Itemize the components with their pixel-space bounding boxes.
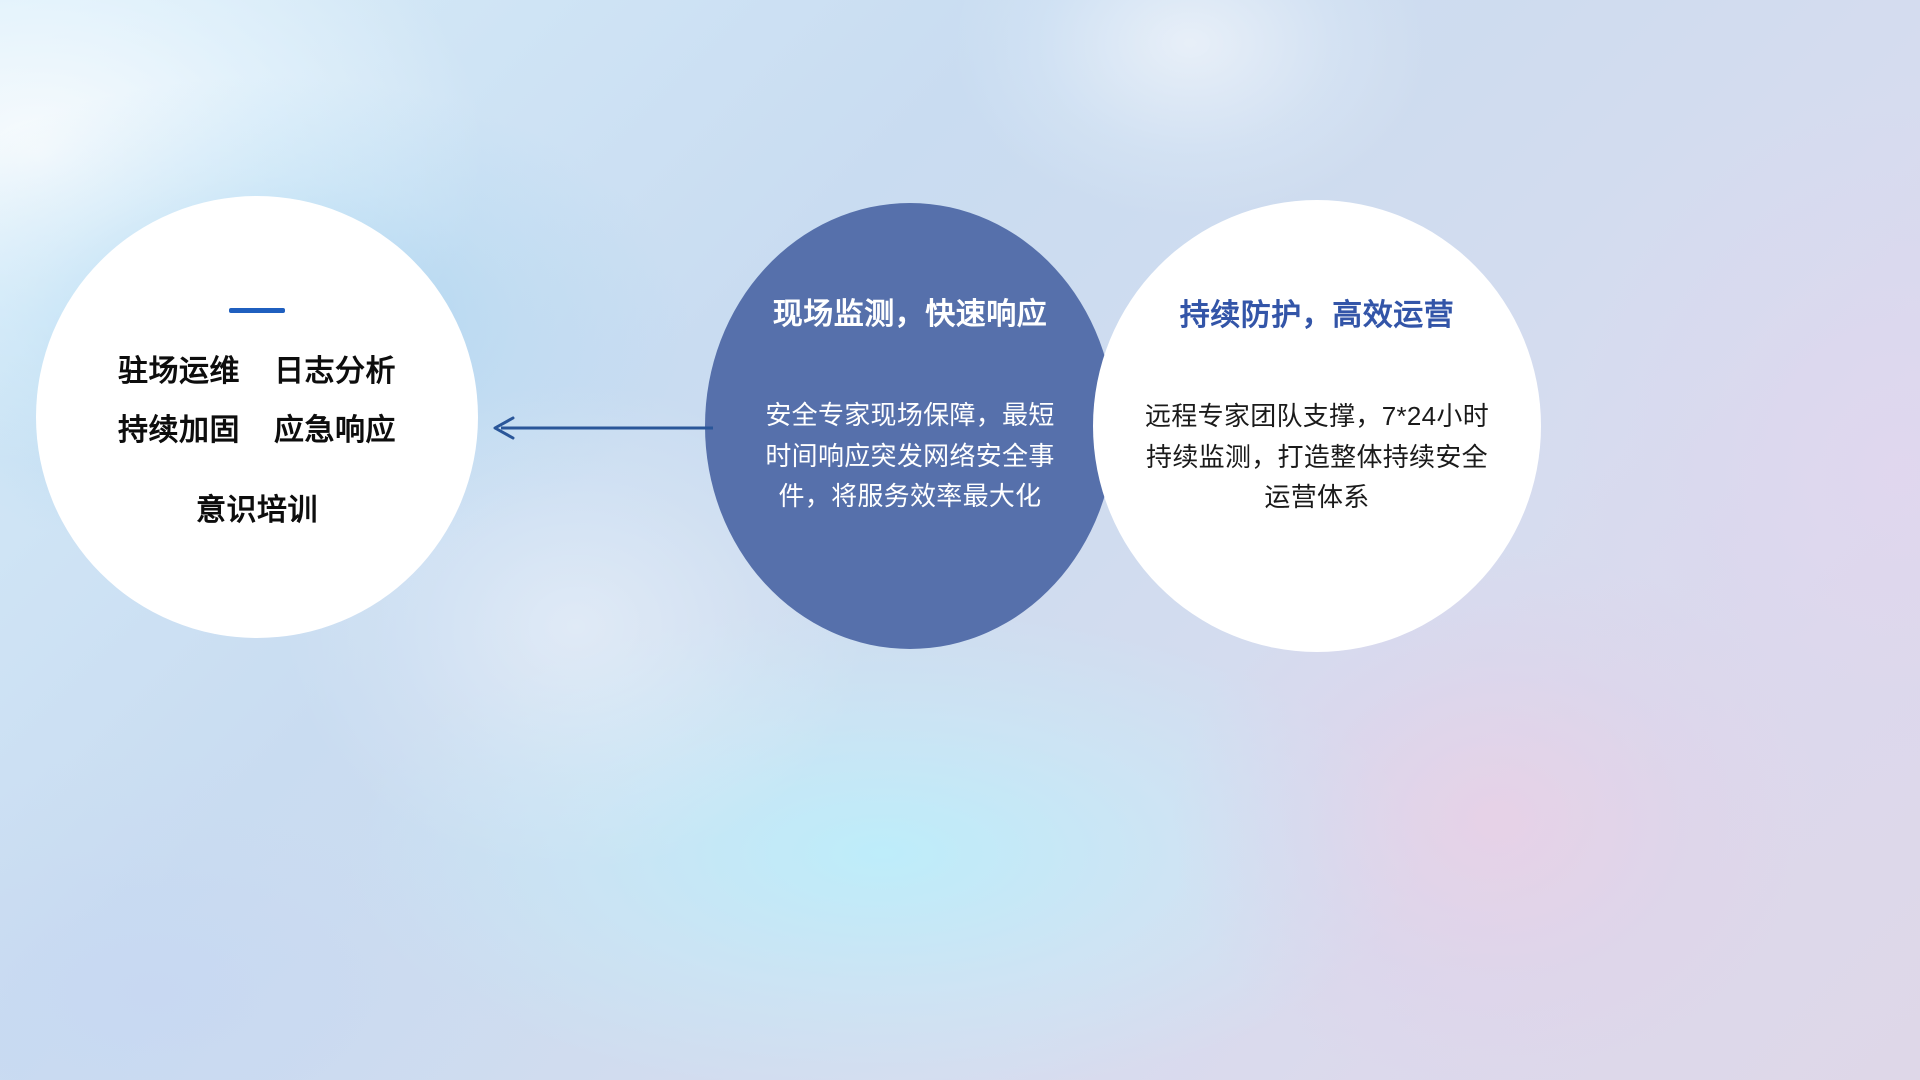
capability-tag: 驻场运维 — [118, 351, 240, 394]
divider-dash-icon — [229, 308, 285, 313]
capability-tag: 持续加固 — [118, 410, 240, 453]
service-capabilities-circle[interactable]: 驻场运维 日志分析 持续加固 应急响应 意识培训 — [36, 196, 478, 638]
capability-row: 驻场运维 日志分析 — [118, 351, 396, 394]
capability-row: 意识培训 — [196, 490, 318, 533]
onsite-monitoring-circle[interactable]: 现场监测，快速响应 安全专家现场保障，最短时间响应突发网络安全事件，将服务效率最… — [705, 203, 1115, 649]
capability-tag: 日志分析 — [274, 351, 396, 394]
slide-canvas: 现场监测，快速响应 安全专家现场保障，最短时间响应突发网络安全事件，将服务效率最… — [0, 0, 1920, 1080]
flow-arrow-left — [485, 408, 715, 448]
continuous-protection-circle[interactable]: 持续防护，高效运营 远程专家团队支撑，7*24小时持续监测，打造整体持续安全运营… — [1093, 200, 1541, 652]
capability-tag: 应急响应 — [274, 410, 396, 453]
onsite-monitoring-title: 现场监测，快速响应 — [773, 289, 1048, 333]
onsite-monitoring-body: 安全专家现场保障，最短时间响应突发网络安全事件，将服务效率最大化 — [754, 395, 1066, 517]
continuous-protection-title: 持续防护，高效运营 — [1180, 290, 1455, 334]
flow-arrow-left-icon — [485, 408, 715, 448]
capability-tag: 意识培训 — [196, 490, 318, 533]
continuous-protection-body: 远程专家团队支撑，7*24小时持续监测，打造整体持续安全运营体系 — [1136, 396, 1498, 518]
capability-row: 持续加固 应急响应 — [118, 410, 396, 453]
